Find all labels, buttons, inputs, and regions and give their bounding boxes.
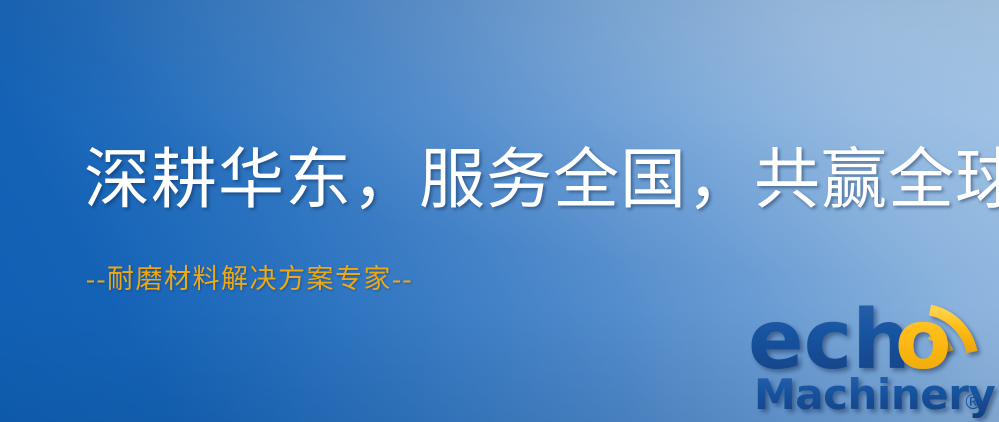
- banner-subtitle: --耐磨材料解决方案专家--: [86, 266, 413, 293]
- registered-trademark-symbol: ®: [963, 390, 983, 414]
- banner-headline: 深耕华东，服务全国，共赢全球: [84, 148, 999, 214]
- logo-tagline: Machinery: [754, 370, 995, 419]
- promotional-banner: 深耕华东，服务全国，共赢全球 --耐磨材料解决方案专家--: [0, 0, 999, 422]
- echo-machinery-logo[interactable]: ech o Machinery ®: [748, 296, 999, 422]
